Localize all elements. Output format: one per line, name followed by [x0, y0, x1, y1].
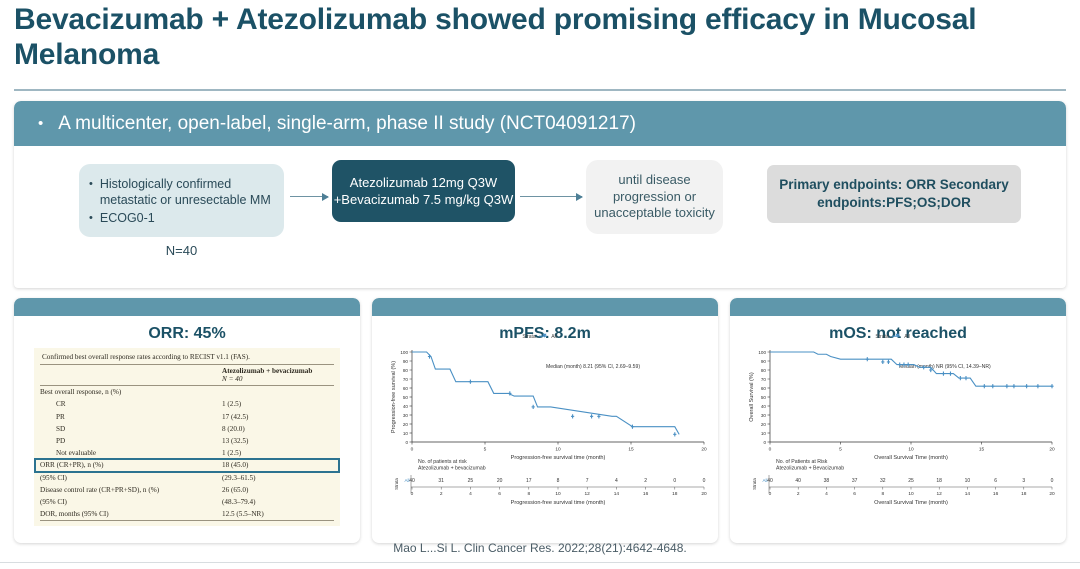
risk-count: 0: [673, 478, 676, 484]
risk-axis-label: Progression-free survival time (month): [511, 500, 606, 506]
risk-axis-tick-label: 2: [797, 491, 800, 497]
risk-count: 38: [824, 478, 830, 484]
bullet-icon: •: [89, 210, 93, 226]
x-tick-label: 15: [628, 447, 634, 453]
panel-header-bar: [730, 298, 1066, 316]
risk-count: 4: [615, 478, 618, 484]
sample-size-label: N=40: [79, 243, 284, 258]
x-tick-label: 10: [908, 447, 914, 453]
bullet-icon: •: [89, 176, 93, 208]
slide-root: Bevacizumab + Atezolizumab showed promis…: [0, 0, 1080, 569]
orr-row-value: (29.3–61.5): [222, 472, 334, 484]
orr-row-value: 13 (32.5): [222, 435, 334, 447]
risk-axis-tick-label: 10: [908, 491, 914, 497]
risk-count: 10: [965, 478, 971, 484]
y-tick-label: 50: [403, 395, 409, 400]
y-tick-label: 0: [763, 440, 766, 445]
risk-axis-tick-label: 12: [585, 491, 591, 497]
eligibility-item: • Histologically confirmed metastatic or…: [89, 176, 276, 208]
x-axis-label: Overall Survival Time (month): [874, 455, 948, 461]
page-title: Bevacizumab + Atezolizumab showed promis…: [14, 2, 1024, 73]
risk-axis-tick-label: 0: [411, 491, 414, 497]
table-row: DOR, months (95% CI)12.5 (5.5–NR): [40, 508, 334, 521]
risk-count: 25: [908, 478, 914, 484]
risk-count: 31: [438, 478, 444, 484]
y-tick-label: 80: [761, 368, 767, 373]
risk-count: 7: [586, 478, 589, 484]
risk-count: 3: [1022, 478, 1025, 484]
x-tick-label: 5: [839, 447, 842, 453]
risk-axis-tick-label: 6: [498, 491, 501, 497]
y-tick-label: 50: [761, 395, 767, 400]
table-row: SD8 (20.0): [40, 423, 334, 435]
y-tick-label: 10: [761, 431, 767, 436]
orr-row-label: DOR, months (95% CI): [40, 508, 222, 521]
x-tick-label: 10: [555, 447, 561, 453]
orr-header-blank: [40, 365, 222, 386]
eligibility-box: • Histologically confirmed metastatic or…: [79, 164, 284, 237]
risk-count: 20: [497, 478, 503, 484]
y-tick-label: 90: [403, 359, 409, 364]
table-row: PR17 (42.5): [40, 411, 334, 423]
risk-axis-tick-label: 16: [643, 491, 649, 497]
citation: Mao L...Si L. Clin Cancer Res. 2022;28(2…: [0, 541, 1080, 555]
table-row: Best overall response, n (%): [40, 386, 334, 399]
risk-table-heading: No. of Patients at Risk: [776, 459, 828, 465]
eligibility-text: Histologically confirmed metastatic or u…: [100, 176, 276, 208]
risk-axis-tick-label: 20: [1049, 491, 1055, 497]
study-design-card: • A multicenter, open-label, single-arm,…: [14, 101, 1066, 288]
orr-highlight-box: [34, 458, 340, 472]
risk-axis-tick-label: 16: [993, 491, 999, 497]
table-row: Disease control rate (CR+PR+SD), n (%)26…: [40, 484, 334, 496]
orr-table-caption: Confirmed best overall response rates ac…: [40, 351, 334, 364]
x-tick-label: 20: [1049, 447, 1055, 453]
risk-count: 25: [468, 478, 474, 484]
x-tick-label: 15: [979, 447, 985, 453]
orr-row-value: 1 (2.5): [222, 398, 334, 410]
risk-axis-tick-label: 4: [825, 491, 828, 497]
y-tick-label: 10: [403, 431, 409, 436]
y-tick-label: 0: [405, 440, 408, 445]
x-tick-label: 0: [769, 447, 772, 453]
orr-table-header-row: Atezolizumab + bevacizumabN = 40: [40, 365, 334, 386]
risk-count: 6: [994, 478, 997, 484]
table-row: (95% CI)(48.3–79.4): [40, 496, 334, 508]
orr-row-label: Best overall response, n (%): [40, 386, 222, 399]
risk-strata-label: Strata: [752, 478, 757, 490]
risk-table-subheading: Atezolizumab + Bevacizumab: [776, 466, 844, 472]
risk-axis-tick-label: 2: [440, 491, 443, 497]
median-annotation: Median (month) 8.21 (95% CI, 2.69–9.59): [546, 364, 640, 370]
risk-table-heading: No. of patients at risk: [418, 459, 467, 465]
risk-count: 37: [852, 478, 858, 484]
orr-row-value: 8 (20.0): [222, 423, 334, 435]
eligibility-item: • ECOG0-1: [89, 210, 276, 226]
study-headline-text: A multicenter, open-label, single-arm, p…: [58, 113, 636, 135]
pfs-km-plot: StrataAll010203040506070809010005101520P…: [372, 328, 718, 538]
risk-axis-tick-label: 14: [614, 491, 620, 497]
y-tick-label: 80: [403, 368, 409, 373]
endpoints-box: Primary endpoints: ORR Secondary endpoin…: [767, 165, 1021, 223]
os-panel: mOS: not reached StrataAll01020304050607…: [730, 298, 1066, 543]
flow-arrow-1-icon: [290, 196, 328, 197]
eligibility-text: ECOG0-1: [100, 210, 155, 226]
risk-count: 40: [409, 478, 415, 484]
orr-row-value: [222, 386, 334, 399]
orr-row-label: CR: [40, 398, 222, 410]
y-tick-label: 100: [758, 350, 766, 355]
orr-row-label: PR: [40, 411, 222, 423]
bullet-icon: •: [38, 116, 43, 131]
y-tick-label: 100: [400, 350, 408, 355]
risk-count: 0: [1051, 478, 1054, 484]
y-tick-label: 20: [403, 422, 409, 427]
y-tick-label: 60: [403, 386, 409, 391]
panel-header-bar: [372, 298, 718, 316]
y-tick-label: 70: [403, 377, 409, 382]
orr-table: Atezolizumab + bevacizumabN = 40Best ove…: [40, 364, 334, 521]
orr-table-container: Confirmed best overall response rates ac…: [34, 348, 340, 526]
x-tick-label: 5: [484, 447, 487, 453]
y-tick-label: 70: [761, 377, 767, 382]
panel-header-bar: [14, 298, 360, 316]
orr-row-value: (48.3–79.4): [222, 496, 334, 508]
y-tick-label: 20: [761, 422, 767, 427]
x-tick-label: 0: [411, 447, 414, 453]
flow-arrow-2-icon: [520, 196, 582, 197]
risk-axis-tick-label: 18: [1021, 491, 1027, 497]
risk-axis-tick-label: 6: [853, 491, 856, 497]
x-axis-label: Progression-free survival time (month): [511, 455, 606, 461]
risk-axis-tick-label: 4: [469, 491, 472, 497]
legend-entry: All: [904, 334, 910, 340]
risk-count: 40: [795, 478, 801, 484]
risk-count: 2: [644, 478, 647, 484]
legend-title: Strata: [522, 334, 536, 340]
treatment-box: Atezolizumab 12mg Q3W +Bevacizumab 7.5 m…: [332, 160, 515, 222]
y-tick-label: 30: [761, 413, 767, 418]
risk-axis-tick-label: 18: [672, 491, 678, 497]
orr-row-label: (95% CI): [40, 472, 222, 484]
risk-strata-label: Strata: [394, 478, 399, 490]
orr-row-label: PD: [40, 435, 222, 447]
orr-row-label: (95% CI): [40, 496, 222, 508]
y-tick-label: 60: [761, 386, 767, 391]
orr-row-label: Disease control rate (CR+PR+SD), n (%): [40, 484, 222, 496]
table-row: PD13 (32.5): [40, 435, 334, 447]
risk-count: 32: [880, 478, 886, 484]
risk-axis-tick-label: 12: [937, 491, 943, 497]
y-axis-label: Progression-free survival (%): [391, 361, 397, 433]
risk-count: 0: [703, 478, 706, 484]
study-flow-diagram: • Histologically confirmed metastatic or…: [14, 146, 1066, 288]
risk-count: 18: [936, 478, 942, 484]
risk-table-subheading: Atezolizumab + bevacizumab: [418, 466, 486, 472]
y-tick-label: 40: [403, 404, 409, 409]
risk-axis-tick-label: 20: [701, 491, 707, 497]
legend-title: Strata: [875, 334, 889, 340]
table-row: (95% CI)(29.3–61.5): [40, 472, 334, 484]
footer-divider: [0, 562, 1080, 563]
study-headline-bar: • A multicenter, open-label, single-arm,…: [14, 101, 1066, 146]
title-divider: [14, 89, 1066, 91]
y-tick-label: 40: [761, 404, 767, 409]
y-axis-label: Overall Survival (%): [749, 372, 755, 422]
y-tick-label: 90: [761, 359, 767, 364]
orr-column-header: Atezolizumab + bevacizumabN = 40: [222, 365, 334, 386]
treatment-duration-box: until disease progression or unacceptabl…: [586, 160, 723, 234]
risk-count: 8: [557, 478, 560, 484]
risk-count: 40: [767, 478, 773, 484]
y-tick-label: 30: [403, 413, 409, 418]
table-row: CR1 (2.5): [40, 398, 334, 410]
risk-axis-label: Overall Survival Time (month): [874, 500, 948, 506]
orr-panel-title: ORR: 45%: [14, 325, 360, 343]
risk-axis-tick-label: 14: [965, 491, 971, 497]
orr-row-value: 26 (65.0): [222, 484, 334, 496]
risk-count: 17: [526, 478, 532, 484]
orr-row-label: SD: [40, 423, 222, 435]
risk-axis-tick-label: 8: [527, 491, 530, 497]
risk-axis-tick-label: 8: [881, 491, 884, 497]
orr-panel: ORR: 45% Confirmed best overall response…: [14, 298, 360, 543]
os-km-plot: StrataAll010203040506070809010005101520O…: [730, 328, 1066, 538]
legend-entry: All: [551, 334, 557, 340]
orr-row-value: 12.5 (5.5–NR): [222, 508, 334, 521]
x-tick-label: 20: [701, 447, 707, 453]
risk-axis-tick-label: 0: [769, 491, 772, 497]
orr-row-value: 17 (42.5): [222, 411, 334, 423]
pfs-panel: mPFS: 8.2m StrataAll01020304050607080901…: [372, 298, 718, 543]
risk-axis-tick-label: 10: [555, 491, 561, 497]
